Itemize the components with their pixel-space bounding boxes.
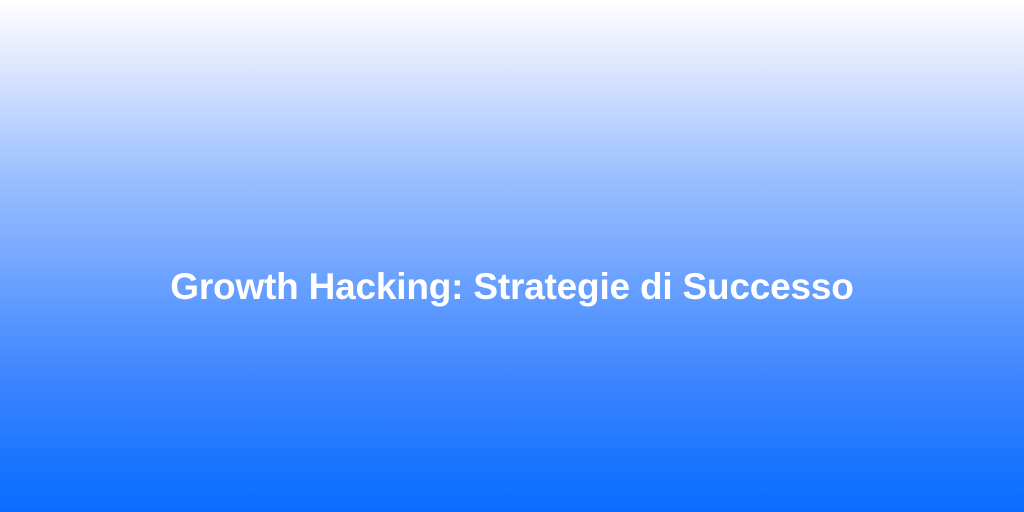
page-title: Growth Hacking: Strategie di Successo xyxy=(48,265,976,309)
title-block: Growth Hacking: Strategie di Successo xyxy=(0,265,1024,309)
title-slide: Growth Hacking: Strategie di Successo xyxy=(0,0,1024,512)
